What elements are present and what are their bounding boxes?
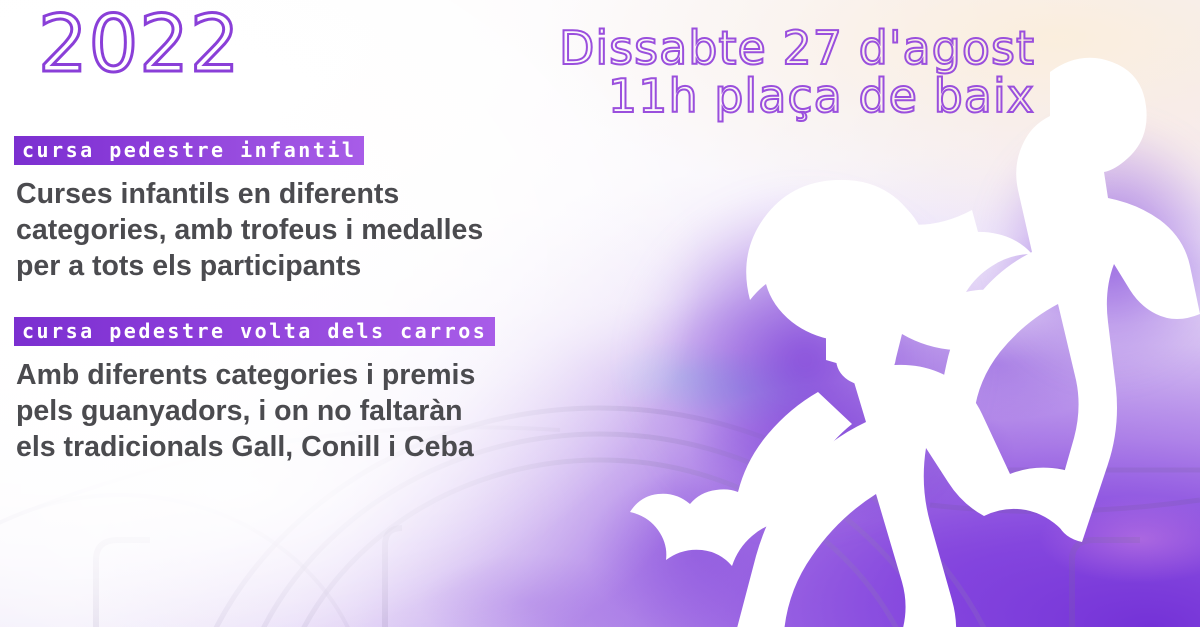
- body-line: Curses infantils en diferents: [16, 177, 616, 213]
- event-poster: 2022 Dissabte 27 d'agost 11h plaça de ba…: [0, 0, 1200, 627]
- headline-line-date: Dissabte 27 d'agost: [345, 24, 1035, 72]
- section-cursa-volta-dels-carros: cursa pedestre Volta dels carros Amb dif…: [0, 317, 640, 466]
- body-line: pels guanyadors, i on no faltaràn: [16, 394, 616, 430]
- female-runner-silhouette: [630, 180, 1092, 627]
- section-cursa-infantil: cursa pedestre infantil Curses infantils…: [0, 136, 640, 285]
- runner-glow-front: [590, 150, 1020, 570]
- section-tag-volta-dels-carros: cursa pedestre Volta dels carros: [14, 317, 495, 346]
- event-headline: Dissabte 27 d'agost 11h plaça de baix: [345, 24, 1035, 121]
- year-heading: 2022: [38, 6, 241, 84]
- body-line: per a tots els participants: [16, 249, 616, 285]
- body-line: els tradicionals Gall, Conill i Ceba: [16, 430, 616, 466]
- section-body-volta-dels-carros: Amb diferents categories i premis pels g…: [16, 358, 616, 466]
- body-line: categories, amb trofeus i medalles: [16, 213, 616, 249]
- poster-content: cursa pedestre infantil Curses infantils…: [0, 136, 640, 483]
- runner-glow-back: [960, 90, 1200, 410]
- section-tag-infantil: cursa pedestre infantil: [14, 136, 364, 165]
- headline-line-time-place: 11h plaça de baix: [345, 72, 1035, 120]
- body-line: Amb diferents categories i premis: [16, 358, 616, 394]
- section-body-infantil: Curses infantils en diferents categories…: [16, 177, 616, 285]
- male-runner-silhouette: [836, 58, 1200, 542]
